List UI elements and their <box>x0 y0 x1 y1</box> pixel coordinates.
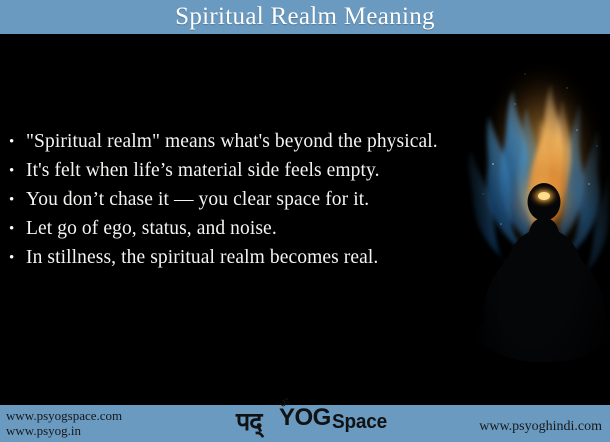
list-item: • In stillness, the spiritual realm beco… <box>0 245 520 274</box>
bullet-dot-icon: • <box>9 129 26 155</box>
footer-link-psyogin[interactable]: www.psyog.in <box>6 424 122 439</box>
bullet-list: • "Spiritual realm" means what's beyond … <box>0 129 520 274</box>
list-item-label: Let go of ego, status, and noise. <box>26 216 277 242</box>
list-item: • It's felt when life’s material side fe… <box>0 158 520 187</box>
brand-logo: पद् ॐ YOG Space <box>236 397 396 442</box>
list-item-label: In stillness, the spiritual realm become… <box>26 245 378 271</box>
footer-band: www.psyogspace.com www.psyog.in पद् ॐ YO… <box>0 405 610 442</box>
logo-yog-text: YOG <box>279 406 331 430</box>
footer-link-psyoghindi[interactable]: www.psyoghindi.com <box>479 419 602 434</box>
header-band: Spiritual Realm Meaning <box>0 0 610 34</box>
list-item: • Let go of ego, status, and noise. <box>0 216 520 245</box>
bullet-dot-icon: • <box>9 245 26 271</box>
logo-devanagari-text: पद् <box>236 409 261 434</box>
page-title: Spiritual Realm Meaning <box>175 4 435 31</box>
content-area: • "Spiritual realm" means what's beyond … <box>0 34 610 405</box>
footer-links-left: www.psyogspace.com www.psyog.in <box>6 409 122 438</box>
list-item-label: It's felt when life’s material side feel… <box>26 158 380 184</box>
footer-link-psyogspace[interactable]: www.psyogspace.com <box>6 409 122 424</box>
list-item-label: You don’t chase it — you clear space for… <box>26 187 369 213</box>
list-item: • You don’t chase it — you clear space f… <box>0 187 520 216</box>
bullet-dot-icon: • <box>9 158 26 184</box>
bullet-dot-icon: • <box>9 187 26 213</box>
list-item: • "Spiritual realm" means what's beyond … <box>0 129 520 158</box>
logo-space-text: Space <box>332 412 387 433</box>
poster-root: Spiritual Realm Meaning <box>0 0 610 442</box>
list-item-label: "Spiritual realm" means what's beyond th… <box>26 129 438 155</box>
bullet-dot-icon: • <box>9 216 26 242</box>
